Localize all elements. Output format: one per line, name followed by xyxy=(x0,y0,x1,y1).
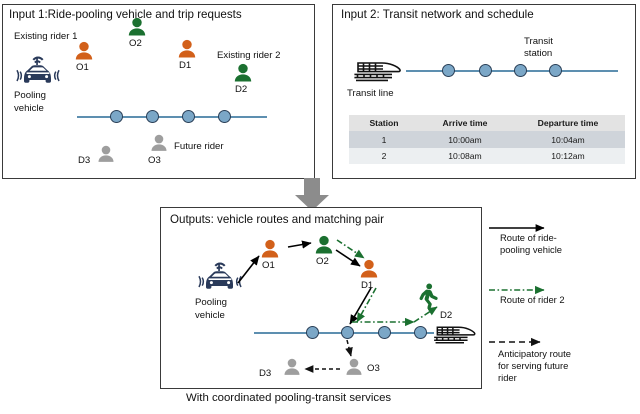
person-icon-o3 xyxy=(148,133,170,155)
output-node-label-d1: D1 xyxy=(361,280,373,291)
transit-line-input2 xyxy=(406,70,618,72)
column-header-arrive-time: Arrive time xyxy=(419,115,511,131)
input2-title: Input 2: Transit network and schedule xyxy=(341,8,534,21)
output-person-icon-o2 xyxy=(312,234,336,258)
output-person-icon-d3 xyxy=(281,357,303,379)
node-label-d3: D3 xyxy=(78,155,90,166)
node-label-d2: D2 xyxy=(235,84,247,95)
table-row: 1 10:00am 10:04am xyxy=(349,131,625,147)
node-label-o2: O2 xyxy=(129,38,142,49)
legend-label-vehicle-route-line1: Route of ride- xyxy=(500,232,557,243)
column-header-station: Station xyxy=(349,115,419,131)
input1-pooling-vehicle-label-line2: vehicle xyxy=(14,103,44,114)
person-icon-o1 xyxy=(72,40,96,64)
output-person-icon-d1 xyxy=(357,258,381,282)
person-icon-d1 xyxy=(175,38,199,62)
node-label-d1: D1 xyxy=(179,60,191,71)
transit-station-input2-2 xyxy=(479,64,492,77)
transit-station-input2-1 xyxy=(442,64,455,77)
legend-label-anticipatory-route-line3: rider xyxy=(498,372,517,383)
table-header-row: Station Arrive time Departure time xyxy=(349,115,625,131)
output-person-icon-o1 xyxy=(258,238,282,262)
train-icon-input2 xyxy=(352,55,406,85)
transit-station-2 xyxy=(146,110,159,123)
output-pooling-vehicle-label-line1: Pooling xyxy=(195,297,227,308)
person-icon-d3 xyxy=(95,144,117,166)
output-node-label-o3: O3 xyxy=(367,363,380,374)
output-title: Outputs: vehicle routes and matching pai… xyxy=(170,213,384,226)
pooling-vehicle-icon xyxy=(14,56,62,88)
person-icon-d2 xyxy=(231,62,255,86)
transit-schedule-table: Station Arrive time Departure time 1 10:… xyxy=(349,115,625,164)
input2-transit-line-label: Transit line xyxy=(347,88,394,99)
cell-arrive-time: 10:00am xyxy=(419,131,511,147)
node-label-o1: O1 xyxy=(76,62,89,73)
transit-station-1 xyxy=(110,110,123,123)
legend-label-rider2-route-line1: Route of rider 2 xyxy=(500,294,565,305)
cell-departure-time: 10:04am xyxy=(511,131,625,147)
output-transit-station-2 xyxy=(341,326,354,339)
output-pooling-vehicle-icon xyxy=(196,262,244,294)
transit-station-input2-4 xyxy=(549,64,562,77)
input1-pooling-vehicle-label-line1: Pooling xyxy=(14,90,46,101)
legend-label-anticipatory-route-line1: Anticipatory route xyxy=(498,348,571,359)
table-row: 2 10:08am 10:12am xyxy=(349,148,625,164)
cell-departure-time: 10:12am xyxy=(511,148,625,164)
legend-label-anticipatory-route-line2: for serving future xyxy=(498,360,568,371)
train-icon-output xyxy=(432,320,480,347)
legend-label-vehicle-route-line2: pooling vehicle xyxy=(500,244,562,255)
column-header-departure-time: Departure time xyxy=(511,115,625,131)
input1-existing-rider-2-label: Existing rider 2 xyxy=(217,50,280,61)
input2-transit-station-label-line1: Transit xyxy=(524,36,553,47)
input1-existing-rider-1-label: Existing rider 1 xyxy=(14,31,77,42)
cell-station: 1 xyxy=(349,131,419,147)
transit-line-input1 xyxy=(77,116,267,118)
transit-station-4 xyxy=(218,110,231,123)
transit-station-input2-3 xyxy=(514,64,527,77)
output-node-label-d3: D3 xyxy=(259,368,271,379)
input1-future-rider-label: Future rider xyxy=(174,141,224,152)
cell-arrive-time: 10:08am xyxy=(419,148,511,164)
output-transit-station-1 xyxy=(306,326,319,339)
node-label-o3: O3 xyxy=(148,155,161,166)
figure-caption: With coordinated pooling-transit service… xyxy=(186,392,391,404)
walking-person-icon-d2 xyxy=(416,283,440,309)
output-node-label-o1: O1 xyxy=(262,260,275,271)
legend-item-anticipatory-route xyxy=(488,337,554,347)
transit-station-3 xyxy=(182,110,195,123)
output-node-label-o2: O2 xyxy=(316,256,329,267)
output-transit-station-3 xyxy=(378,326,391,339)
person-icon-o2 xyxy=(125,16,149,40)
output-transit-station-4 xyxy=(414,326,427,339)
output-pooling-vehicle-label-line2: vehicle xyxy=(195,310,225,321)
input2-transit-station-label-line2: station xyxy=(524,48,552,59)
output-person-icon-o3 xyxy=(343,357,365,379)
cell-station: 2 xyxy=(349,148,419,164)
